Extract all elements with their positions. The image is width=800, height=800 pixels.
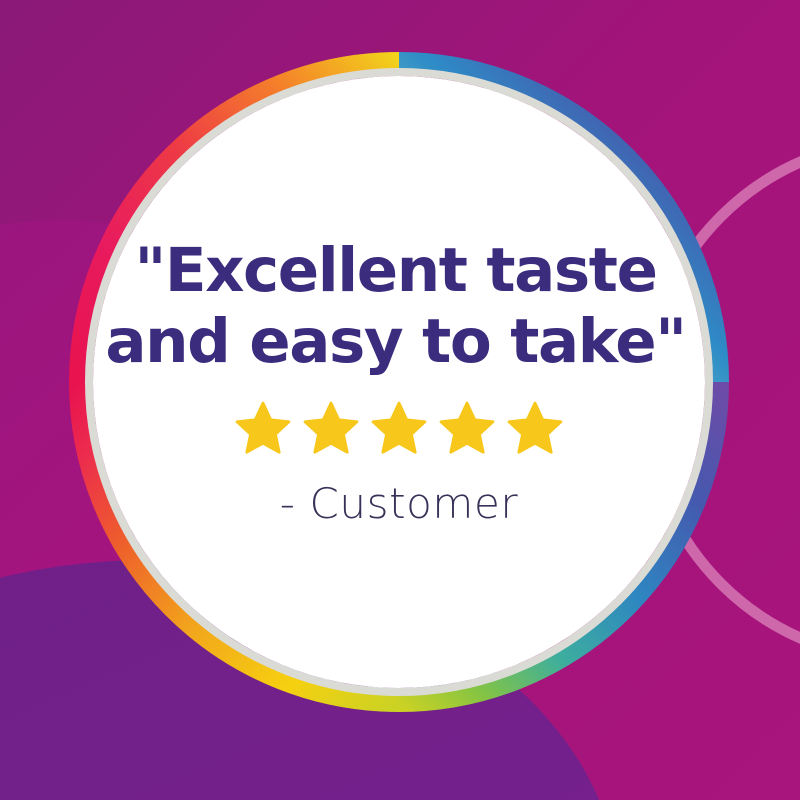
testimonial-content: "Excellent taste and easy to take" - Cus… [93,76,705,688]
testimonial-graphic: "Excellent taste and easy to take" - Cus… [0,0,800,800]
star-rating [232,399,566,459]
quote-text: "Excellent taste and easy to take" [86,236,706,378]
star-icon [368,399,430,459]
attribution-text: - Customer [280,479,519,528]
star-icon [436,399,498,459]
star-icon [504,399,566,459]
star-icon [300,399,362,459]
quote-line-1: "Excellent taste [86,236,706,307]
star-icon [232,399,294,459]
quote-line-2: and easy to take" [86,307,706,378]
